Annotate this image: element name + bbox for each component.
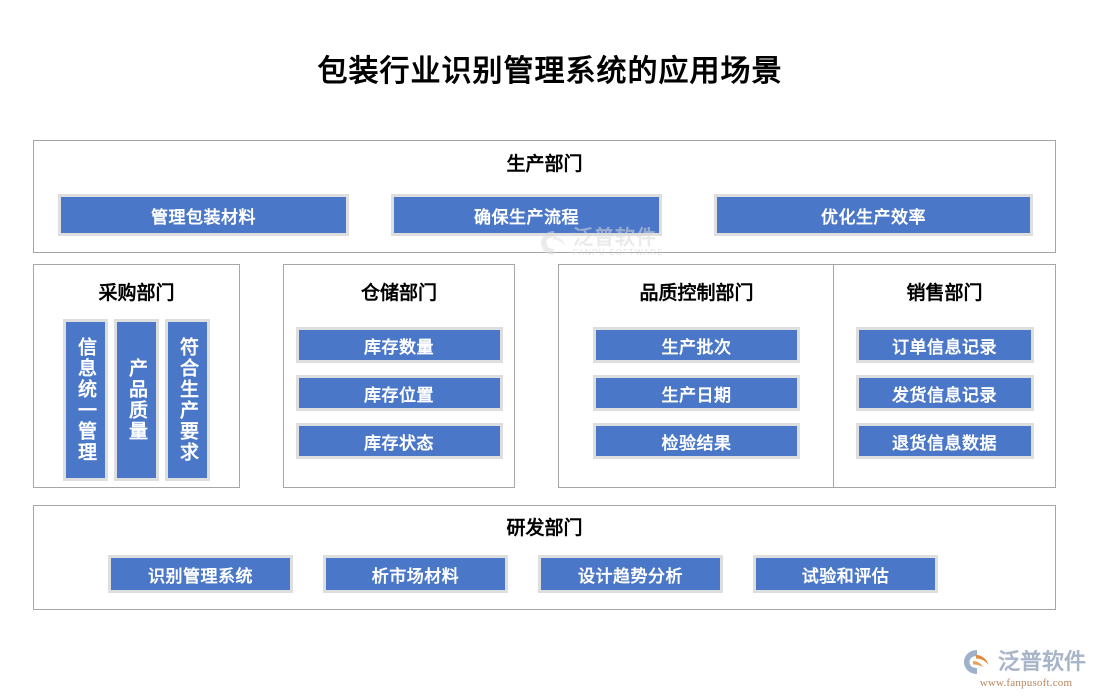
brand-logo-row: 泛普软件: [962, 648, 1092, 676]
chip-design-trend-analysis[interactable]: 设计趋势分析: [538, 555, 723, 593]
chip-unified-information-management[interactable]: 信息统一管理: [63, 319, 108, 481]
warehouse-chip-stack: 库存数量 库存位置 库存状态: [284, 327, 514, 471]
panel-title-quality: 品质控制部门: [559, 282, 834, 306]
chip-ensure-production-process[interactable]: 确保生产流程: [391, 194, 662, 236]
quality-chip-stack: 生产批次 生产日期 检验结果: [559, 327, 834, 471]
page-title: 包装行业识别管理系统的应用场景: [0, 52, 1100, 92]
chip-return-information-data[interactable]: 退货信息数据: [856, 423, 1034, 459]
chip-optimize-production-efficiency[interactable]: 优化生产效率: [714, 194, 1033, 236]
chip-meet-production-requirements[interactable]: 符合生产要求: [165, 319, 210, 481]
panel-title-production: 生产部门: [34, 153, 1055, 177]
chip-inspection-result[interactable]: 检验结果: [593, 423, 800, 459]
panel-quality-control-department: 品质控制部门 生产批次 生产日期 检验结果: [558, 264, 835, 488]
production-chip-row: 管理包装材料 确保生产流程 优化生产效率: [34, 194, 1055, 236]
brand-url: www.fanpusoft.com: [962, 677, 1090, 689]
sales-chip-stack: 订单信息记录 发货信息记录 退货信息数据: [834, 327, 1055, 471]
chip-inventory-location[interactable]: 库存位置: [296, 375, 503, 411]
panel-title-purchase: 采购部门: [34, 282, 239, 306]
panel-rnd-department: 研发部门 识别管理系统 析市场材料 设计趋势分析 试验和评估: [33, 505, 1056, 610]
chip-identification-management-system[interactable]: 识别管理系统: [108, 555, 293, 593]
chip-inventory-quantity[interactable]: 库存数量: [296, 327, 503, 363]
brand-name-cn: 泛普软件: [998, 649, 1086, 675]
panel-title-rnd: 研发部门: [34, 517, 1055, 541]
rnd-chip-row: 识别管理系统 析市场材料 设计趋势分析 试验和评估: [34, 555, 1055, 593]
panel-title-sales: 销售部门: [834, 282, 1055, 306]
chip-shipment-information-record[interactable]: 发货信息记录: [856, 375, 1034, 411]
purchase-chip-row: 信息统一管理 产品质量 符合生产要求: [34, 319, 239, 481]
chip-trial-and-evaluation[interactable]: 试验和评估: [753, 555, 938, 593]
chip-inventory-status[interactable]: 库存状态: [296, 423, 503, 459]
chip-order-information-record[interactable]: 订单信息记录: [856, 327, 1034, 363]
chip-production-date[interactable]: 生产日期: [593, 375, 800, 411]
chip-product-quality[interactable]: 产品质量: [114, 319, 159, 481]
panel-title-warehouse: 仓储部门: [284, 282, 514, 306]
chip-manage-packaging-material[interactable]: 管理包装材料: [58, 194, 349, 236]
fanpu-logo-icon: [962, 648, 992, 676]
panel-warehouse-department: 仓储部门 库存数量 库存位置 库存状态: [283, 264, 515, 488]
panel-sales-department: 销售部门 订单信息记录 发货信息记录 退货信息数据: [833, 264, 1056, 488]
chip-production-batch[interactable]: 生产批次: [593, 327, 800, 363]
brand-logo: 泛普软件 www.fanpusoft.com: [962, 648, 1092, 692]
panel-purchase-department: 采购部门 信息统一管理 产品质量 符合生产要求: [33, 264, 240, 488]
chip-analyze-market-material[interactable]: 析市场材料: [323, 555, 508, 593]
panel-production-department: 生产部门 管理包装材料 确保生产流程 优化生产效率: [33, 140, 1056, 253]
